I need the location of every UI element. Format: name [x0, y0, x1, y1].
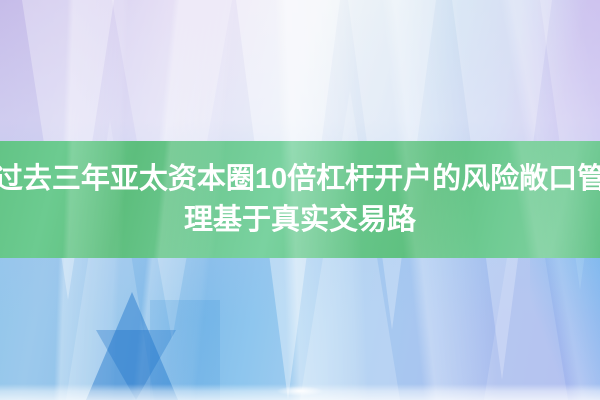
headline-band: 过去三年亚太资本圈10倍杠杆开户的风险敞口管 理基于真实交易路 [0, 141, 600, 258]
promo-banner: 过去三年亚太资本圈10倍杠杆开户的风险敞口管 理基于真实交易路 [0, 0, 600, 400]
headline-line-2: 理基于真实交易路 [184, 200, 416, 241]
headline-text: 过去三年亚太资本圈10倍杠杆开户的风险敞口管 理基于真实交易路 [0, 141, 600, 258]
headline-line-1: 过去三年亚太资本圈10倍杠杆开户的风险敞口管 [0, 159, 600, 200]
facet-right-edge-highlight [530, 258, 600, 400]
bottom-watermark [277, 386, 323, 396]
